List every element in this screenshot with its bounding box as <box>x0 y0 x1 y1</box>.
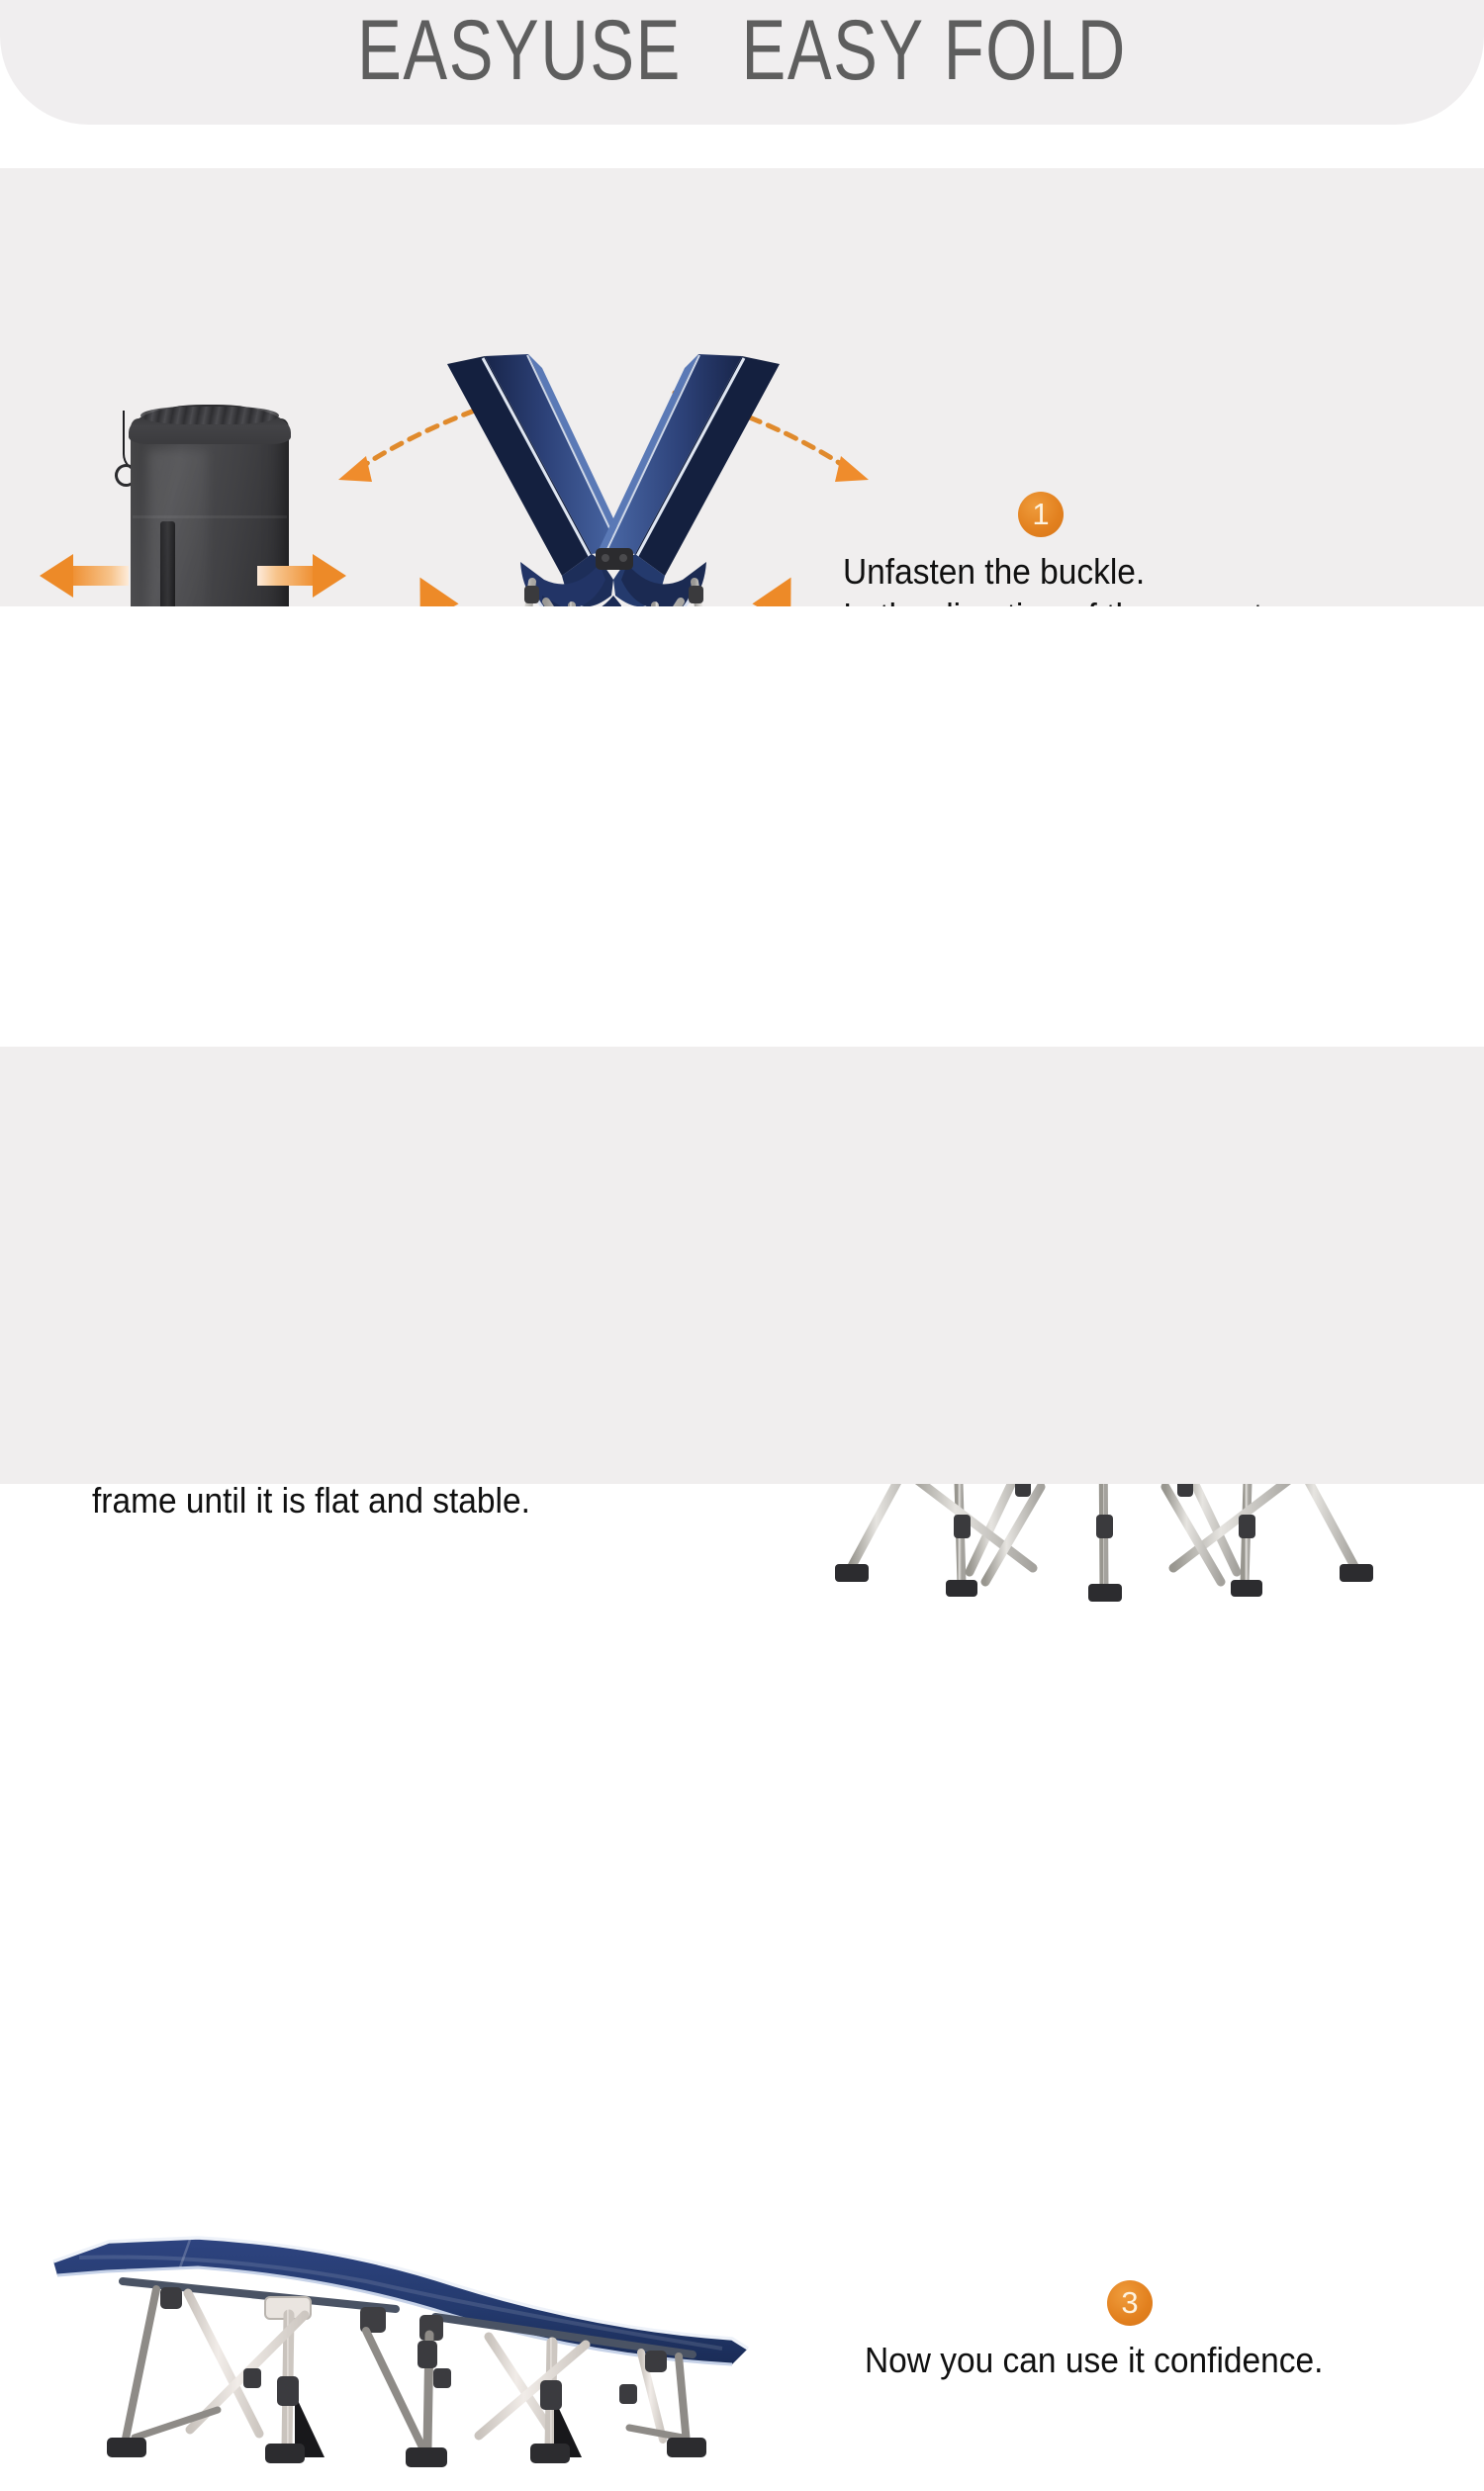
flat-cot-image <box>40 2224 762 2491</box>
flat-cot-feet <box>107 2438 706 2467</box>
arrow-left-icon <box>40 554 131 598</box>
section-step-3: 3 Now you can use it confidence. <box>0 1047 1484 1484</box>
arrow-right-icon <box>255 554 346 598</box>
arrow-head <box>40 554 73 598</box>
arrow-shaft <box>257 566 317 586</box>
arrow-head <box>313 554 346 598</box>
step-1-badge: 1 <box>1018 492 1064 537</box>
bag-cinch-gathers <box>140 407 279 424</box>
step-3-badge: 3 <box>1107 2280 1153 2326</box>
flat-cot-legs <box>125 2289 687 2449</box>
arrow-shaft <box>69 566 129 586</box>
step-3-text: Now you can use it confidence. <box>865 2338 1323 2382</box>
folded-arm-right <box>596 354 780 576</box>
section-step-2: 2 PRESS DOWN the arrow in the middle fra… <box>0 606 1484 1047</box>
section-step-1: 1 Unfasten the buckle. In the direction … <box>0 168 1484 606</box>
page-title: EASYUSE EASY FOLD <box>163 6 1321 95</box>
